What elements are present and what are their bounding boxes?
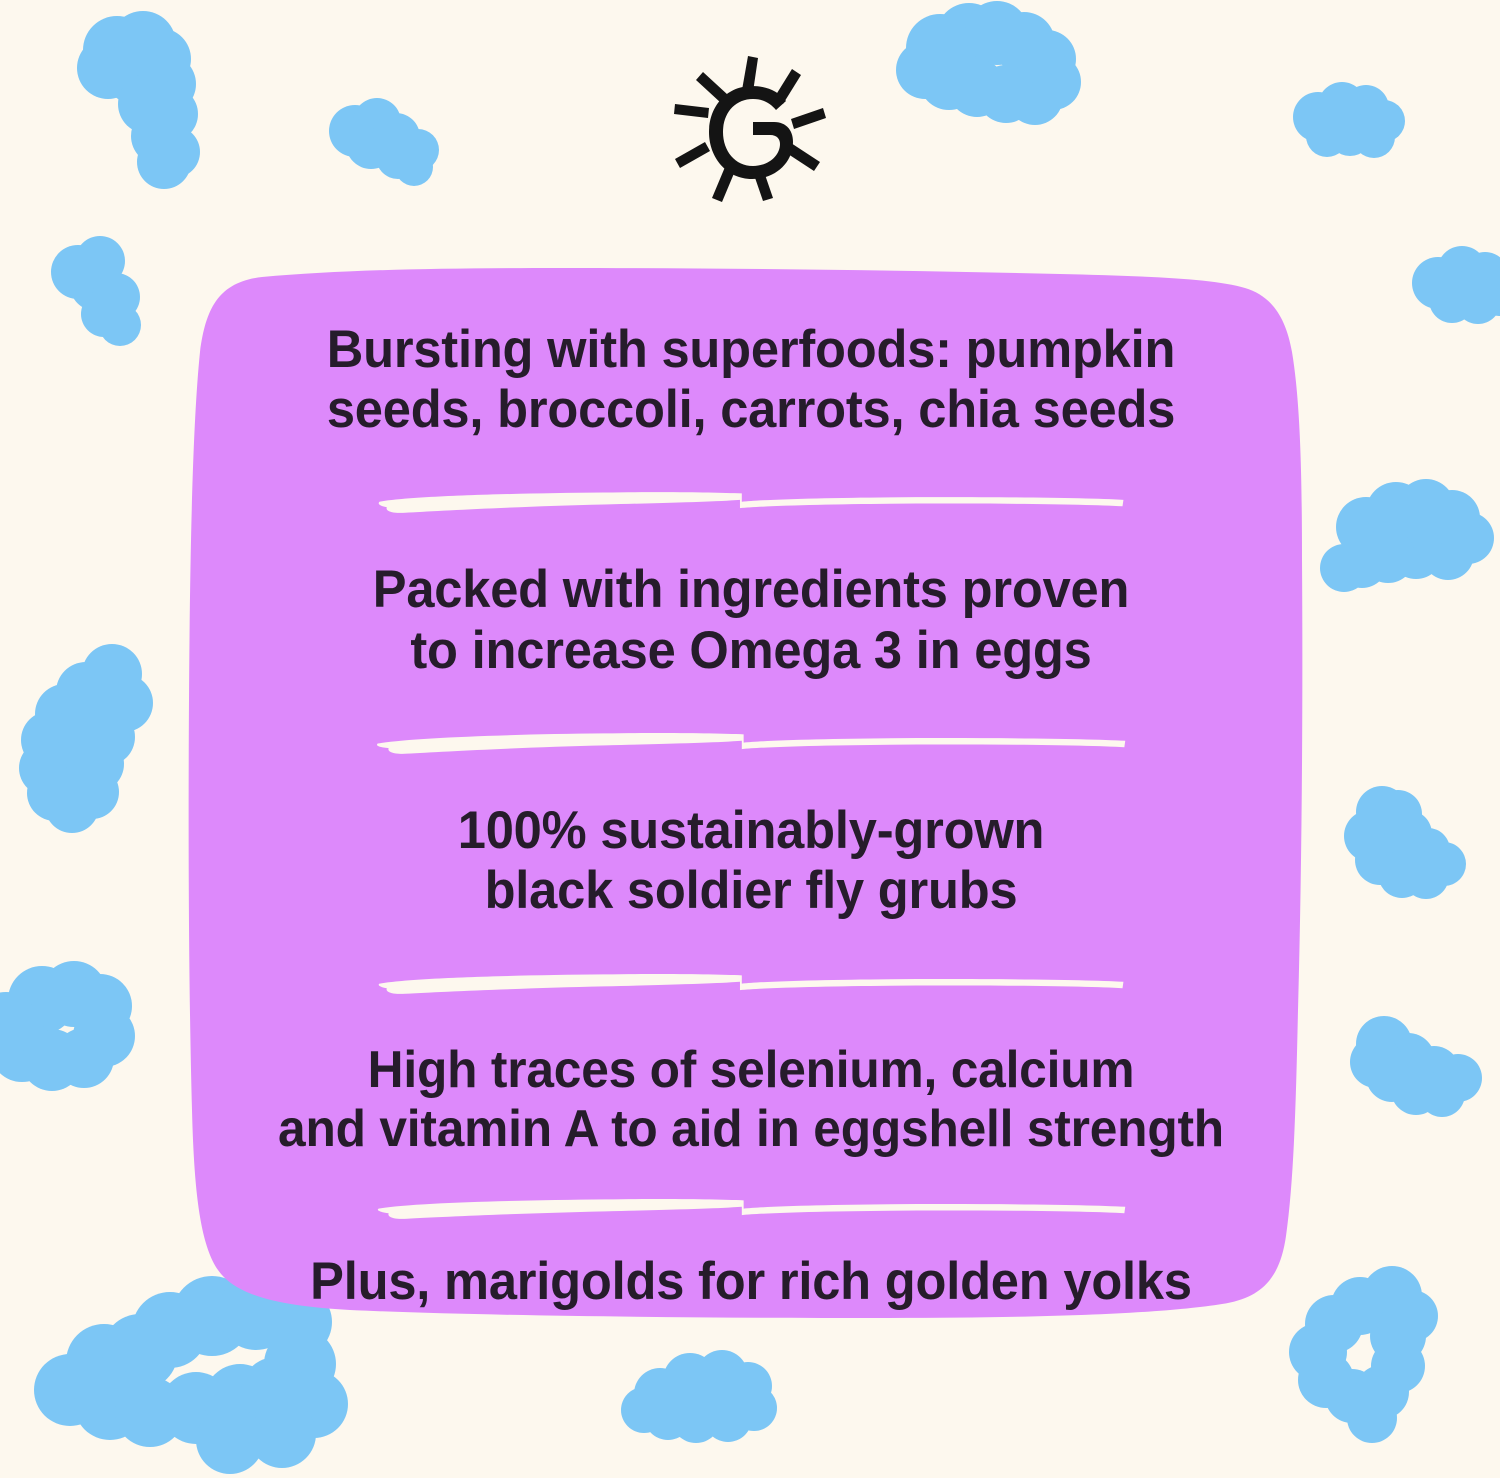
claim-line: to increase Omega 3 in eggs bbox=[215, 621, 1287, 681]
claim-line: seeds, broccoli, carrots, chia seeds bbox=[215, 380, 1287, 440]
claims-list: Bursting with superfoods: pumpkin seeds,… bbox=[190, 272, 1312, 1312]
product-claims-graphic: Bursting with superfoods: pumpkin seeds,… bbox=[0, 0, 1500, 1478]
claim-black-soldier-fly: 100% sustainably-grown black soldier fly… bbox=[215, 801, 1287, 922]
claim-marigolds: Plus, marigolds for rich golden yolks bbox=[215, 1252, 1287, 1312]
claim-line: black soldier fly grubs bbox=[215, 861, 1287, 921]
claims-card: Bursting with superfoods: pumpkin seeds,… bbox=[0, 0, 1500, 1478]
claim-line: 100% sustainably-grown bbox=[215, 801, 1287, 861]
claim-line: Packed with ingredients proven bbox=[215, 560, 1287, 620]
claim-line: and vitamin A to aid in eggshell strengt… bbox=[215, 1100, 1287, 1159]
claim-eggshell-strength: High traces of selenium, calcium and vit… bbox=[215, 1041, 1287, 1160]
divider-stroke bbox=[341, 487, 1161, 518]
divider-stroke bbox=[341, 727, 1161, 758]
divider-stroke bbox=[341, 968, 1161, 999]
claim-line: Bursting with superfoods: pumpkin bbox=[215, 320, 1287, 380]
claim-superfoods: Bursting with superfoods: pumpkin seeds,… bbox=[215, 320, 1287, 441]
claim-line: Plus, marigolds for rich golden yolks bbox=[215, 1252, 1287, 1312]
divider-stroke bbox=[341, 1193, 1161, 1224]
claim-line: High traces of selenium, calcium bbox=[215, 1041, 1287, 1100]
claim-omega3: Packed with ingredients proven to increa… bbox=[215, 560, 1287, 681]
